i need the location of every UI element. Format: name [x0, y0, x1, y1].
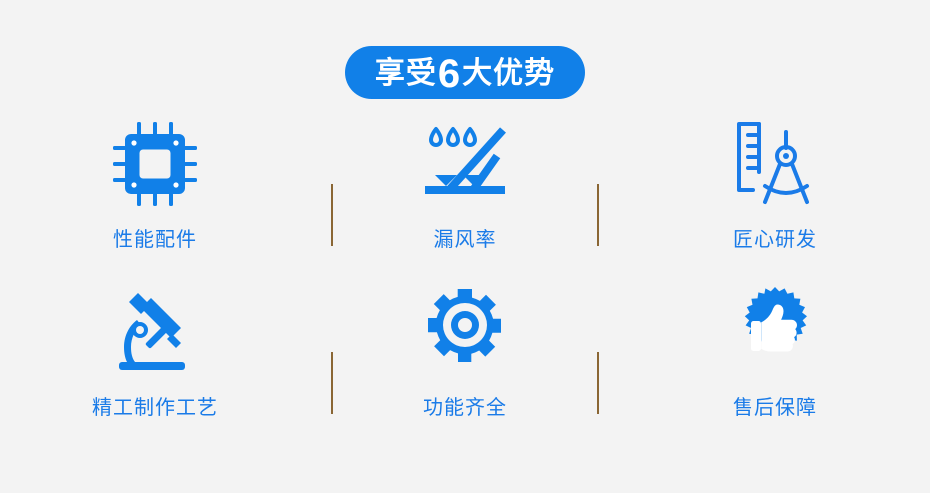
feature-label: 售后保障	[733, 398, 817, 418]
feature-label: 性能配件	[113, 230, 197, 250]
title-suffix: 大优势	[462, 59, 555, 89]
feature-item-performance-parts[interactable]: 性能配件	[0, 112, 310, 280]
cpu-chip-icon	[103, 112, 207, 216]
gear-icon	[413, 280, 517, 384]
water-droplets-repellent-icon	[413, 112, 517, 216]
title-number: 6	[437, 54, 462, 94]
feature-row-top: 性能配件	[0, 112, 930, 280]
feature-item-craftsmanship[interactable]: 精工制作工艺	[0, 280, 310, 448]
feature-item-after-sales[interactable]: 售后保障	[620, 280, 930, 448]
feature-row-bottom: 精工制作工艺 功能齐全	[0, 280, 930, 448]
promo-feature-banner: 享受 6 大优势	[0, 0, 930, 493]
feature-label: 漏风率	[434, 230, 497, 250]
feature-item-air-leakage[interactable]: 漏风率	[310, 112, 620, 280]
feature-label: 匠心研发	[733, 230, 817, 250]
feature-label: 精工制作工艺	[92, 398, 218, 418]
title-prefix: 享受	[375, 59, 437, 89]
feature-label: 功能齐全	[423, 398, 507, 418]
feature-item-full-function[interactable]: 功能齐全	[310, 280, 620, 448]
feature-grid: 性能配件	[0, 112, 930, 448]
feature-item-rnd[interactable]: 匠心研发	[620, 112, 930, 280]
header-area: 享受 6 大优势	[0, 46, 930, 99]
ruler-compass-icon	[723, 112, 827, 216]
thumbs-up-badge-icon	[723, 280, 827, 384]
page-title-badge: 享受 6 大优势	[345, 46, 585, 99]
microscope-icon	[103, 280, 207, 384]
